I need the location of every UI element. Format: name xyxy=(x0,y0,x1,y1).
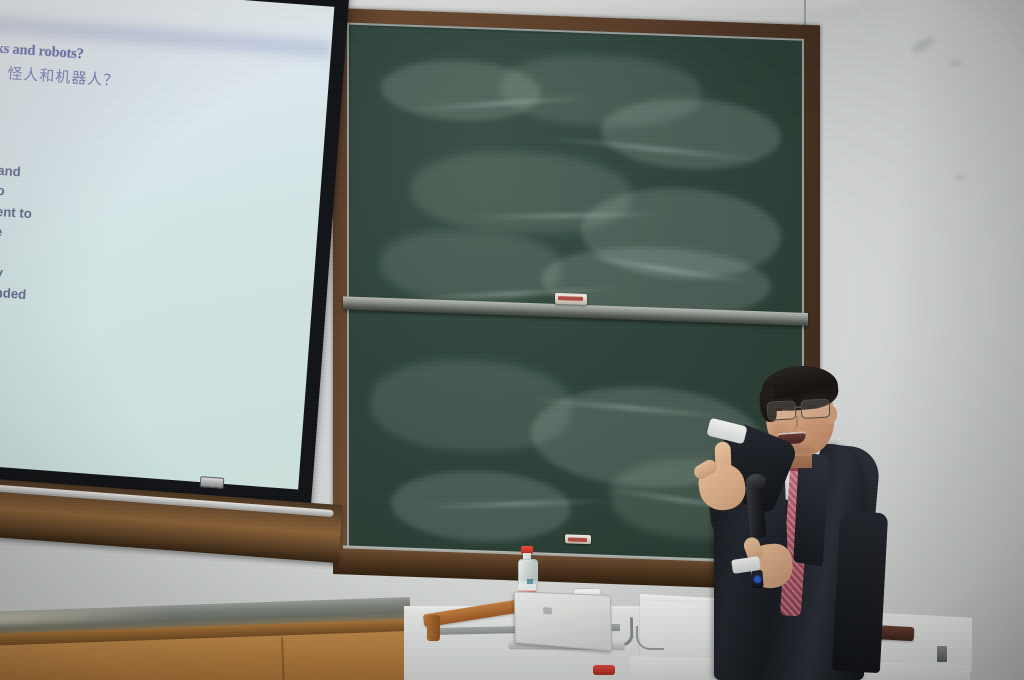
wooden-front-desk xyxy=(0,597,413,680)
eraser-icon xyxy=(555,293,587,305)
eye-left xyxy=(774,408,783,411)
lectern-latch xyxy=(937,646,947,662)
chair-post xyxy=(427,615,440,641)
laptop xyxy=(511,592,612,653)
microphone-led-indicator xyxy=(754,576,761,583)
eye-right xyxy=(807,405,816,408)
eraser-icon xyxy=(565,534,591,544)
slide-content: upon Chinese athletes as cheats, freaks … xyxy=(0,0,333,488)
nose xyxy=(786,416,798,430)
desk-highlight xyxy=(0,607,170,625)
slide-body-text: the Chinese with an ugly mix of envy and… xyxy=(0,145,309,345)
laptop-lid xyxy=(514,591,613,651)
speaker xyxy=(686,362,886,680)
laptop-logo xyxy=(543,607,552,614)
wall-smudge xyxy=(955,175,965,180)
suit-arm-right xyxy=(832,511,888,673)
table-red-knob xyxy=(593,665,615,675)
lectern-cable xyxy=(636,626,664,650)
projection-screen: upon Chinese athletes as cheats, freaks … xyxy=(0,0,350,515)
wall-smudge xyxy=(950,60,962,66)
screen-roller-knob xyxy=(200,476,225,489)
slide-source-citation: e Daily Telegraph, Aug.2, 2012 xyxy=(0,94,312,146)
eyeglass-lens-right xyxy=(800,398,830,418)
projection-screen-surface: upon Chinese athletes as cheats, freaks … xyxy=(0,0,334,490)
lecture-photograph: upon Chinese athletes as cheats, freaks … xyxy=(0,0,1024,680)
